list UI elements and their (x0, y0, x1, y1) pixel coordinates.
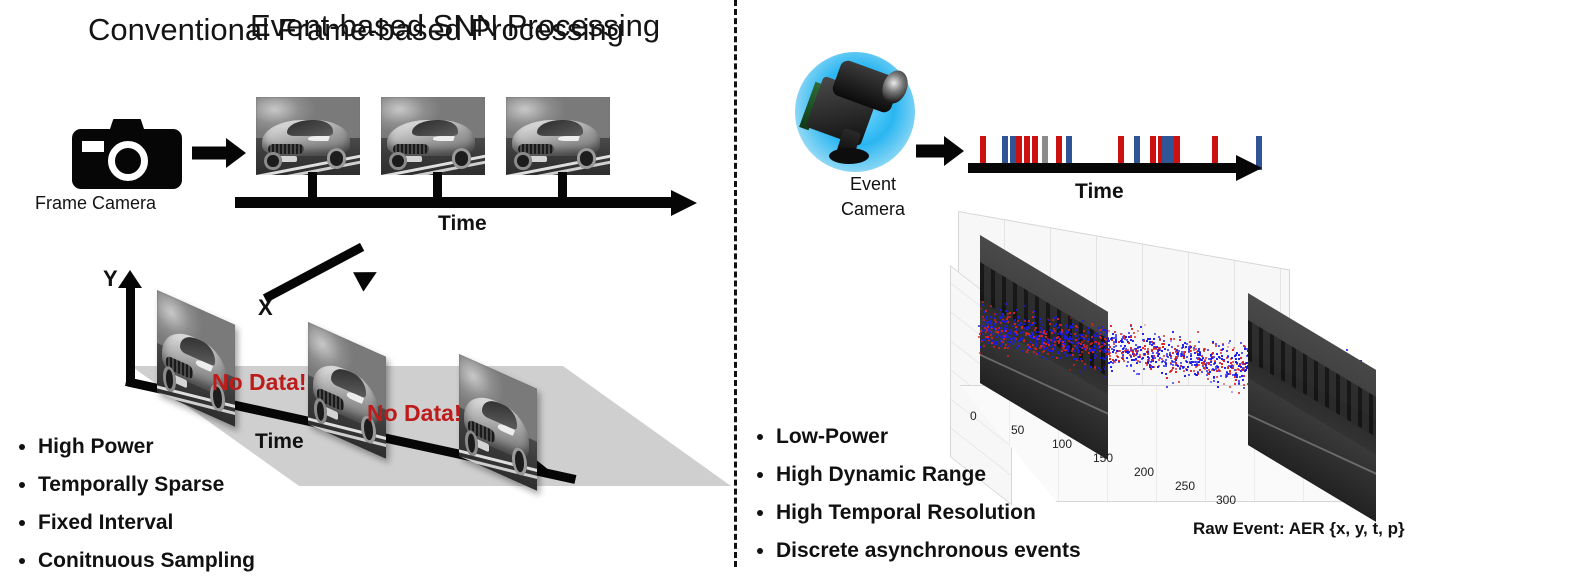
event-point (1213, 376, 1215, 378)
event-point (1047, 353, 1049, 355)
frame-timeline-axis (235, 194, 700, 212)
event-point (1161, 372, 1163, 374)
event-point (1111, 370, 1113, 372)
event-point (1070, 317, 1072, 319)
event-point (1071, 350, 1073, 352)
event-point (1213, 363, 1215, 365)
event-point (1191, 364, 1193, 366)
event-point (1112, 333, 1114, 335)
event-point (1187, 366, 1189, 368)
event-point (1068, 346, 1070, 348)
axis-tick-label: 150 (1093, 451, 1113, 465)
event-point (1146, 340, 1148, 342)
event-point (1084, 363, 1086, 365)
event-point (1159, 339, 1161, 341)
event-point (1207, 349, 1209, 351)
event-point (1186, 361, 1188, 363)
event-point (1014, 319, 1016, 321)
event-point (1190, 346, 1192, 348)
event-point (1115, 341, 1117, 343)
event-point (1244, 348, 1246, 350)
event-point (995, 321, 997, 323)
event-point (1045, 343, 1047, 345)
event-point (1021, 331, 1023, 333)
event-point (1067, 350, 1069, 352)
event-point (1130, 336, 1132, 338)
event-point (1115, 345, 1117, 347)
event-point (1139, 346, 1141, 348)
event-point (1147, 361, 1149, 363)
event-point (1196, 374, 1198, 376)
event-point (1140, 349, 1142, 351)
event-point (1057, 327, 1059, 329)
event-point (1115, 336, 1117, 338)
event-point (1172, 382, 1174, 384)
axis-x-label: X (258, 295, 273, 321)
event-point (1211, 357, 1213, 359)
event-point (1014, 339, 1016, 341)
event-point (1172, 331, 1174, 333)
event-point (1070, 341, 1072, 343)
event-point (1224, 367, 1226, 369)
event-point (1036, 345, 1038, 347)
event-point (1003, 338, 1005, 340)
list-item: Discrete asynchronous events (776, 536, 1081, 566)
event-point (1087, 339, 1089, 341)
event-point (1032, 324, 1034, 326)
event-point (1042, 324, 1044, 326)
event-point (1158, 349, 1160, 351)
event-point (1221, 358, 1223, 360)
event-point (1179, 368, 1181, 370)
event-point (1003, 330, 1005, 332)
event-point (1100, 337, 1102, 339)
event-point (1096, 351, 1098, 353)
event-point (1121, 352, 1123, 354)
event-point (1175, 359, 1177, 361)
event-point (1219, 370, 1221, 372)
event-point (1140, 326, 1142, 328)
left-bullet-list: High Power Temporally Sparse Fixed Inter… (14, 432, 255, 584)
event-point (1130, 347, 1132, 349)
event-point (1122, 348, 1124, 350)
event-point (1018, 324, 1020, 326)
event-point (1040, 318, 1042, 320)
event-point (1221, 366, 1223, 368)
event-point (1190, 370, 1192, 372)
event-point (1220, 352, 1222, 354)
event-point (993, 346, 995, 348)
event-point (1063, 346, 1065, 348)
event-point (1041, 335, 1043, 337)
event-point (1077, 341, 1079, 343)
event-point (1052, 350, 1054, 352)
event-point (1104, 376, 1106, 378)
event-point (1000, 327, 1002, 329)
axis-x-arrowhead (353, 262, 382, 291)
event-point (1227, 346, 1229, 348)
event-point (1065, 326, 1067, 328)
event-point (1024, 305, 1026, 307)
event-point (1034, 316, 1036, 318)
event-point (1155, 361, 1157, 363)
event-point (1157, 366, 1159, 368)
event-point (1070, 333, 1072, 335)
event-point (1054, 344, 1056, 346)
event-point (1106, 356, 1108, 358)
event-point (1090, 343, 1092, 345)
list-item: Fixed Interval (38, 508, 255, 538)
event-point (1075, 325, 1077, 327)
event-point (1114, 361, 1116, 363)
event-point (1079, 354, 1081, 356)
event-point (1042, 351, 1044, 353)
event-point (1201, 371, 1203, 373)
event-point (1178, 381, 1180, 383)
event-point (1112, 351, 1114, 353)
event-point (1041, 356, 1043, 358)
event-point (1122, 358, 1124, 360)
list-item: Temporally Sparse (38, 470, 255, 500)
event-point (1128, 332, 1130, 334)
event-point (998, 321, 1000, 323)
event-point (1209, 371, 1211, 373)
camera-lens-ring (108, 141, 148, 181)
event-point (1137, 330, 1139, 332)
event-point (1032, 316, 1034, 318)
event-point (1172, 364, 1174, 366)
event-point (994, 323, 996, 325)
event-point (1064, 337, 1066, 339)
event-point (1170, 357, 1172, 359)
event-point (997, 331, 999, 333)
event-point (1243, 384, 1245, 386)
plot-caption: Raw Event: AER {x, y, t, p} (1193, 519, 1405, 539)
event-point (1238, 354, 1240, 356)
event-point (1139, 361, 1141, 363)
event-point (1242, 379, 1244, 381)
event-point (1130, 356, 1132, 358)
event-point (1213, 369, 1215, 371)
event-point (1179, 336, 1181, 338)
event-point (1152, 366, 1154, 368)
event-point (1208, 363, 1210, 365)
event-point (1174, 348, 1176, 350)
event-point (1017, 320, 1019, 322)
event-point (1094, 346, 1096, 348)
frame-thumbnail (506, 97, 610, 175)
event-point (1128, 342, 1130, 344)
event-point (1244, 370, 1246, 372)
event-point (1144, 345, 1146, 347)
event-point (1002, 343, 1004, 345)
event-point (1118, 360, 1120, 362)
event-point (979, 333, 981, 335)
event-point (1085, 335, 1087, 337)
event-point (1184, 342, 1186, 344)
event-point (1045, 358, 1047, 360)
event-point (1104, 368, 1106, 370)
event-point (1218, 345, 1220, 347)
event-point (1193, 370, 1195, 372)
event-point (1138, 373, 1140, 375)
event-point (1226, 375, 1228, 377)
event-point (1066, 332, 1068, 334)
event-point (1190, 355, 1192, 357)
event-point (1094, 354, 1096, 356)
event-point (985, 331, 987, 333)
event-point (1216, 376, 1218, 378)
event-point (1000, 332, 1002, 334)
event-point (1147, 353, 1149, 355)
event-point (1194, 352, 1196, 354)
event-point (1104, 343, 1106, 345)
event-camera-label: Event Camera (833, 172, 913, 222)
event-point (1196, 357, 1198, 359)
space-time-frame-plane (157, 290, 235, 427)
event-point (1047, 318, 1049, 320)
event-point (1147, 348, 1149, 350)
event-point (1171, 346, 1173, 348)
event-point (1114, 331, 1116, 333)
event-point (1144, 324, 1146, 326)
event-point (1195, 348, 1197, 350)
event-point (1056, 337, 1058, 339)
event-point (987, 321, 989, 323)
event-point (1184, 351, 1186, 353)
event-point (1227, 373, 1229, 375)
event-point (1147, 351, 1149, 353)
event-camera-foot (829, 148, 869, 164)
event-point (1186, 369, 1188, 371)
event-point (1048, 344, 1050, 346)
event-point (1217, 381, 1219, 383)
event-point (1180, 362, 1182, 364)
event-point (996, 343, 998, 345)
event-point (1183, 370, 1185, 372)
event-point (1028, 333, 1030, 335)
event-point (1088, 352, 1090, 354)
event-point (987, 326, 989, 328)
event-point (1024, 320, 1026, 322)
event-point (1051, 356, 1053, 358)
event-point (1162, 343, 1164, 345)
event-point (1238, 382, 1240, 384)
event-point (1166, 386, 1168, 388)
event-point (1045, 347, 1047, 349)
event-point (1199, 358, 1201, 360)
event-point (1236, 376, 1238, 378)
event-point (1198, 361, 1200, 363)
event-point (1241, 369, 1243, 371)
event-point (1207, 378, 1209, 380)
event-point (1229, 386, 1231, 388)
event-point (1177, 353, 1179, 355)
event-point (1240, 342, 1242, 344)
event-point (1158, 359, 1160, 361)
event-point (1153, 347, 1155, 349)
event-point (980, 308, 982, 310)
event-point (1241, 375, 1243, 377)
arrow-right-icon (192, 136, 248, 170)
event-point (1007, 355, 1009, 357)
event-point (1076, 358, 1078, 360)
event-point (1044, 339, 1046, 341)
event-point (1057, 333, 1059, 335)
event-point (1241, 352, 1243, 354)
event-point (1166, 377, 1168, 379)
event-point (1002, 314, 1004, 316)
event-point (1124, 345, 1126, 347)
event-point (1164, 348, 1166, 350)
event-point (1033, 351, 1035, 353)
event-point (998, 347, 1000, 349)
event-point (1131, 328, 1133, 330)
event-point (1015, 331, 1017, 333)
event-point (1158, 336, 1160, 338)
event-point (1220, 375, 1222, 377)
event-point (1217, 366, 1219, 368)
event-point (1135, 349, 1137, 351)
event-point (1094, 368, 1096, 370)
event-camera-label-line2: Camera (833, 197, 913, 222)
event-point (1115, 352, 1117, 354)
event-point (1229, 370, 1231, 372)
event-point (1049, 350, 1051, 352)
event-point (1223, 360, 1225, 362)
event-point (1017, 345, 1019, 347)
event-point (1210, 381, 1212, 383)
event-point (1136, 362, 1138, 364)
event-point (1136, 351, 1138, 353)
event-point (1030, 348, 1032, 350)
event-point (1006, 320, 1008, 322)
event-point (1061, 350, 1063, 352)
event-point (1016, 309, 1018, 311)
event-point (1235, 369, 1237, 371)
event-point (1154, 333, 1156, 335)
event-point (988, 329, 990, 331)
list-item: High Dynamic Range (776, 460, 1081, 490)
event-point (1088, 327, 1090, 329)
event-point (1073, 364, 1075, 366)
event-point (1028, 327, 1030, 329)
event-point (1208, 373, 1210, 375)
camera-viewfinder (82, 141, 104, 152)
event-point (1038, 338, 1040, 340)
arrow-head (944, 136, 964, 166)
event-point (1153, 355, 1155, 357)
axis-tick-label: 250 (1175, 479, 1195, 493)
event-point (991, 337, 993, 339)
event-point (1215, 345, 1217, 347)
event-point (1178, 350, 1180, 352)
event-point (1183, 357, 1185, 359)
axis-y-label: Y (103, 266, 118, 292)
event-point (1060, 340, 1062, 342)
event-point (1080, 371, 1082, 373)
event-point (1009, 329, 1011, 331)
event-point (1134, 336, 1136, 338)
event-point (1235, 358, 1237, 360)
event-point (1132, 340, 1134, 342)
event-point (1064, 340, 1066, 342)
event-point (1243, 387, 1245, 389)
event-point (1143, 340, 1145, 342)
event-point (995, 313, 997, 315)
event-point (1115, 359, 1117, 361)
event-point (1240, 370, 1242, 372)
event-point (1073, 358, 1075, 360)
list-item: Low-Power (776, 422, 1081, 452)
event-point (1230, 366, 1232, 368)
event-point (1167, 349, 1169, 351)
event-point (1127, 361, 1129, 363)
event-point (1009, 338, 1011, 340)
event-point (1198, 364, 1200, 366)
event-point (1015, 326, 1017, 328)
event-point (1234, 355, 1236, 357)
event-point (1004, 335, 1006, 337)
event-point (1034, 322, 1036, 324)
event-point (979, 352, 981, 354)
event-point (984, 339, 986, 341)
event-point (1151, 344, 1153, 346)
axis-time-label: Time (255, 430, 304, 454)
event-point (1008, 332, 1010, 334)
event-point (1092, 351, 1094, 353)
event-point (1116, 350, 1118, 352)
event-point (988, 338, 990, 340)
no-data-label: No Data! (367, 400, 462, 427)
event-point (1186, 356, 1188, 358)
axis-tick-label: 300 (1216, 493, 1236, 507)
timeline-arrowhead (1236, 155, 1262, 181)
event-point (997, 334, 999, 336)
event-point (1072, 354, 1074, 356)
right-bullet-list: Low-Power High Dynamic Range High Tempor… (752, 422, 1081, 574)
arrow-right-icon (916, 134, 966, 168)
event-point (1227, 367, 1229, 369)
event-point (990, 305, 992, 307)
event-point (1061, 345, 1063, 347)
event-point (1226, 350, 1228, 352)
event-point (1104, 334, 1106, 336)
event-point (1172, 352, 1174, 354)
event-point (1163, 340, 1165, 342)
event-point (1015, 334, 1017, 336)
event-point (991, 342, 993, 344)
event-point (1081, 334, 1083, 336)
event-point (1128, 336, 1130, 338)
event-point (1130, 324, 1132, 326)
event-point (1171, 360, 1173, 362)
event-point (1031, 332, 1033, 334)
event-point (1022, 350, 1024, 352)
timeline-arrowhead (671, 190, 697, 216)
event-point (1060, 357, 1062, 359)
event-point (1108, 340, 1110, 342)
axis-y-arrowhead (118, 270, 142, 288)
event-point (1189, 341, 1191, 343)
camera-hump (108, 119, 146, 135)
event-point (1167, 356, 1169, 358)
event-point (1100, 369, 1102, 371)
event-point (1053, 317, 1055, 319)
event-point (1133, 355, 1135, 357)
event-point (1037, 352, 1039, 354)
event-point (1058, 352, 1060, 354)
